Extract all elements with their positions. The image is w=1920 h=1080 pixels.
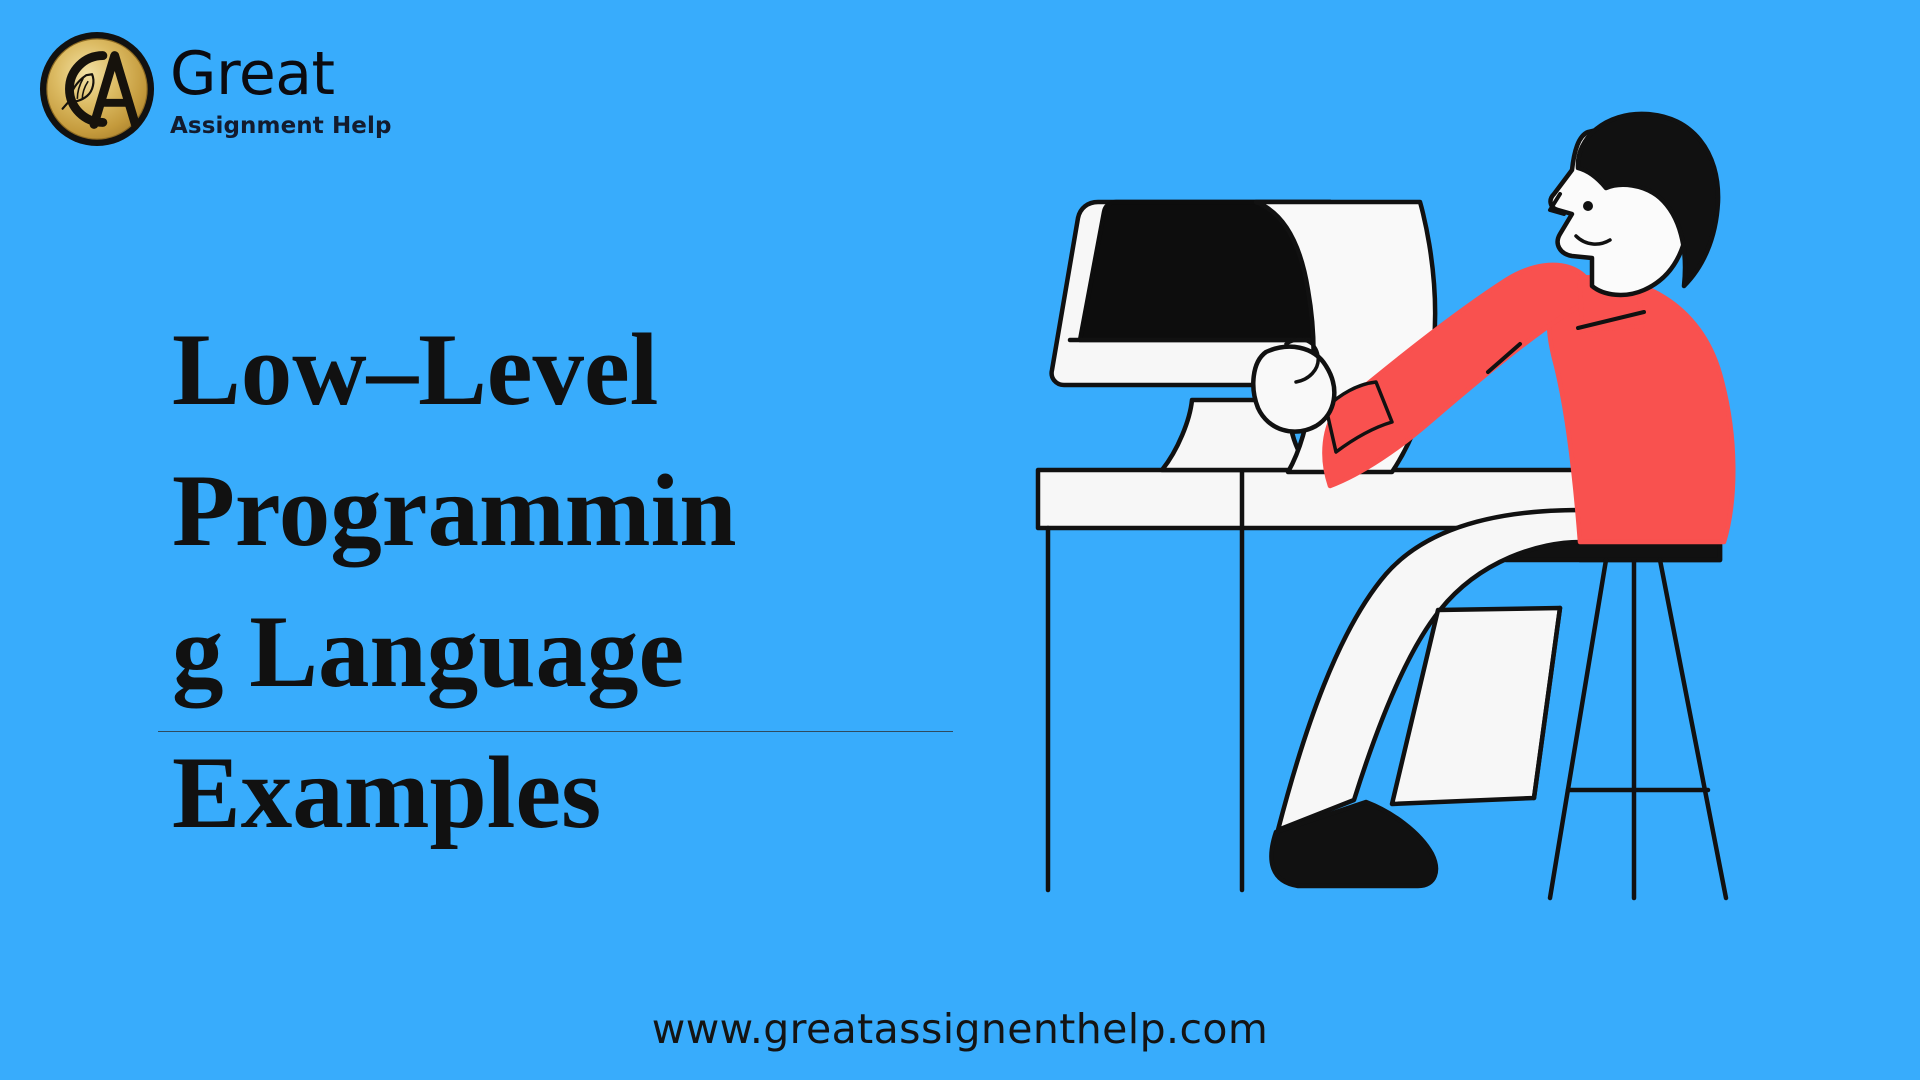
- headline-line-2: Programmin: [172, 441, 992, 582]
- marketing-banner: Great Assignment Help Low–Level Programm…: [0, 0, 1920, 1080]
- headline-line-1: Low–Level: [172, 300, 992, 441]
- brand-logo-text: Great Assignment Help: [170, 40, 392, 138]
- headline-line-4: Examples: [172, 723, 992, 864]
- brand-name: Great: [170, 44, 392, 104]
- headline-line-3: g Language: [172, 582, 992, 723]
- website-url[interactable]: www.greatassignenthelp.com: [0, 1005, 1920, 1053]
- headline-divider: [158, 731, 953, 732]
- brand-logo[interactable]: Great Assignment Help: [38, 30, 392, 148]
- ca-monogram-badge-icon: [38, 30, 156, 148]
- brand-tagline: Assignment Help: [170, 115, 392, 138]
- page-title: Low–Level Programmin g Language Examples: [172, 300, 992, 864]
- person-at-desk-illustration: [1020, 90, 1920, 990]
